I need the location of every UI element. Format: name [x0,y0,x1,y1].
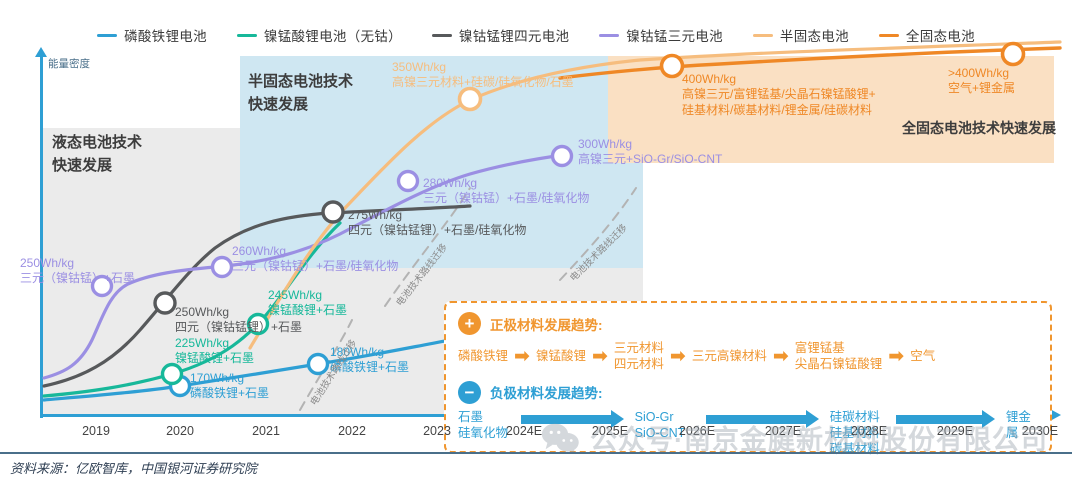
point-label-225: 225Wh/kg 镍锰酸锂+石墨 [175,336,254,367]
legend-swatch-lnmo [237,34,257,37]
cathode-item-1: 磷酸铁锂 [458,348,508,364]
cathode-item-5: 富锂锰基 尖晶石镍锰酸锂 [795,340,883,373]
legend-item-semi-solid-battery[interactable]: 半固态电池 [753,25,849,45]
cathode-item-6: 空气 [910,348,935,364]
marker-tern-280 [399,172,418,191]
marker-allsolid-400 [662,56,683,77]
cathode-chain: 磷酸铁锂 ➡ 镍锰酸锂 ➡ 三元材料 四元材料 ➡ 三元高镍材料 ➡ 富锂锰基 … [458,340,1038,373]
xtick-2025E: 2025E [592,424,628,438]
marker-tern-260 [213,258,232,277]
cathode-item-4: 三元高镍材料 [692,348,767,364]
marker-semisolid-350 [460,89,481,110]
chart-root: 磷酸铁锂电池 镍锰酸锂电池（无钴） 镍钴锰锂四元电池 镍钴锰三元电池 半固态电池… [0,0,1072,484]
legend-item-all-solid-battery[interactable]: 全固态电池 [879,25,975,45]
legend-label-semi-solid: 半固态电池 [780,25,849,45]
xtick-2019: 2019 [82,424,110,438]
xtick-2021: 2021 [252,424,280,438]
legend-swatch-ternary [599,34,619,37]
legend-label-lfp: 磷酸铁锂电池 [124,25,207,45]
cathode-item-2: 镍锰酸锂 [536,348,586,364]
plus-icon: + [458,312,481,335]
arrow-right-icon-a3 [896,414,995,425]
xtick-2020: 2020 [166,424,194,438]
point-label-275: 275Wh/kg 四元（镍钴锰锂）+石墨/硅氧化物 [348,208,526,239]
xtick-2023: 2023 [423,424,451,438]
arrow-right-icon-a2 [706,414,819,425]
plot-area: 液态电池技术 快速发展 半固态电池技术 快速发展 全固态电池技术快速发展 能量密… [0,48,1072,420]
arrow-right-icon-c1: ➡ [514,347,530,366]
legend-label-ternary: 镍钴锰三元电池 [626,25,723,45]
xtick-2027E: 2027E [765,424,801,438]
xtick-2030E: 2030E [1022,424,1058,438]
xtick-2029E: 2029E [937,424,973,438]
footer-divider [0,452,1072,454]
arrow-right-icon-c5: ➡ [888,347,904,366]
cathode-trend-header: + 正极材料发展趋势: [458,312,1038,335]
point-label-400: 400Wh/kg 高镍三元/富锂锰基/尖晶石镍锰酸锂+ 硅基材料/碳基材料/锂金… [682,72,876,118]
marker-quat-275 [323,202,343,222]
legend-label-lnmo: 镍锰酸锂电池（无钴） [264,25,402,45]
point-label-250-ternary: 250Wh/kg 三元（镍钴锰）+石墨 [20,256,135,287]
arrow-right-icon-a1 [521,414,624,425]
minus-icon: − [458,381,481,404]
point-label-170: 170Wh/kg 磷酸铁锂+石墨 [190,371,269,402]
chart-legend: 磷酸铁锂电池 镍锰酸锂电池（无钴） 镍钴锰锂四元电池 镍钴锰三元电池 半固态电池… [0,22,1072,48]
legend-swatch-quaternary [432,34,452,37]
legend-item-quaternary-battery[interactable]: 镍钴锰锂四元电池 [432,25,569,45]
arrow-right-icon-c2: ➡ [592,347,608,366]
xtick-2026E: 2026E [679,424,715,438]
point-label-300: 300Wh/kg 高镍三元+SiO-Gr/SiO-CNT [578,137,722,168]
anode-trend-title: 负极材料发展趋势: [490,382,603,402]
x-axis-ticks: 2019 2020 2021 2022 2023 2024E 2025E 202… [0,424,1072,444]
legend-swatch-semi-solid [753,34,773,37]
marker-lnmo-225 [163,365,182,384]
legend-swatch-lfp [97,34,117,37]
point-label-400-plus: >400Wh/kg 空气+锂金属 [948,66,1015,97]
legend-item-lnmo-battery[interactable]: 镍锰酸锂电池（无钴） [237,25,402,45]
marker-allsolid-400plus [1003,44,1024,65]
anode-trend-header: − 负极材料发展趋势: [458,381,1038,404]
cathode-trend-title: 正极材料发展趋势: [490,314,603,334]
point-label-245: 245Wh/kg 镍锰酸锂+石墨 [268,288,347,319]
legend-swatch-all-solid [879,34,899,37]
legend-label-quaternary: 镍钴锰锂四元电池 [459,25,569,45]
xtick-2028E: 2028E [851,424,887,438]
marker-tern-300 [553,147,572,166]
marker-quat-250 [155,293,175,313]
point-label-260: 260Wh/kg 三元（镍钴锰）+石墨/硅氧化物 [232,244,398,275]
legend-item-lfp-battery[interactable]: 磷酸铁锂电池 [97,25,207,45]
cathode-item-3: 三元材料 四元材料 [614,340,664,373]
arrow-right-icon-c4: ➡ [773,347,789,366]
legend-label-all-solid: 全固态电池 [906,25,975,45]
xtick-2022: 2022 [338,424,366,438]
arrow-right-icon-c3: ➡ [670,347,686,366]
source-note: 资料来源：亿欧智库，中国银河证券研究院 [10,458,257,477]
legend-item-ternary-battery[interactable]: 镍钴锰三元电池 [599,25,723,45]
point-label-280: 280Wh/kg 三元（镍钴锰）+石墨/硅氧化物 [423,176,589,207]
point-label-350: 350Wh/kg 高镍三元材料+硅碳/硅氧化物/石墨 [392,60,574,91]
xtick-2024E: 2024E [506,424,542,438]
